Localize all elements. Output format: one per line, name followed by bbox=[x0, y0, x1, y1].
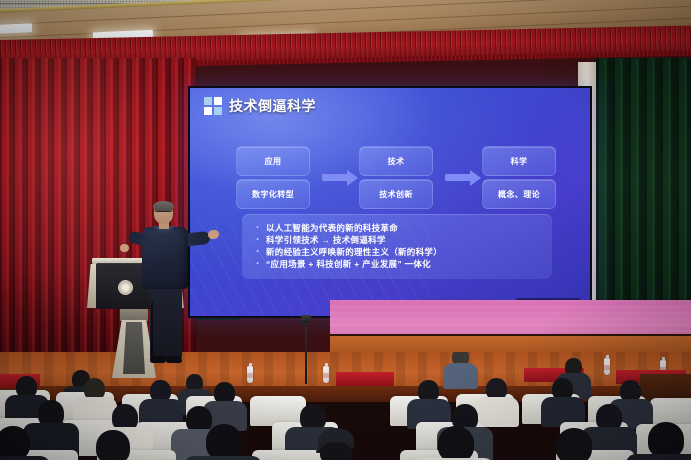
flow-box-technology: 技术 bbox=[359, 146, 433, 176]
speaker-left-hand bbox=[120, 244, 129, 252]
audience-area bbox=[0, 352, 691, 460]
university-crest-emblem bbox=[118, 280, 133, 295]
slide-flow-diagram: 应用 数字化转型 技术 技术创新 科学 概念、理论 bbox=[236, 146, 556, 209]
ceiling-light-1 bbox=[0, 23, 32, 34]
flow-arrow-2-wrap bbox=[433, 174, 482, 181]
flow-box-digital-transformation: 数字化转型 bbox=[236, 179, 310, 209]
bullet-item: “应用场景 + 科技创新 + 产业发展” 一体化 bbox=[252, 258, 542, 270]
slide-bullet-panel: 以人工智能为代表的新的科技革命 科学引领技术 → 技术倒逼科学 新的经验主义呼唤… bbox=[242, 214, 552, 279]
flow-box-science: 科学 bbox=[482, 146, 556, 176]
flow-box-application: 应用 bbox=[236, 146, 310, 176]
bullet-item: 科学引领技术 → 技术倒逼科学 bbox=[252, 234, 542, 246]
slide-surface: 技术倒逼科学 应用 数字化转型 技术 技术创新 科学 bbox=[190, 88, 590, 316]
arrow-right-icon bbox=[322, 174, 348, 181]
flow-column-2: 技术 技术创新 bbox=[359, 146, 433, 209]
flow-box-concept-theory: 概念、理论 bbox=[482, 179, 556, 209]
flow-column-1: 应用 数字化转型 bbox=[236, 146, 310, 209]
speaker-legs bbox=[150, 287, 182, 359]
arrow-right-icon bbox=[445, 174, 471, 181]
slide-header: 技术倒逼科学 bbox=[204, 96, 316, 116]
four-square-grid-logo bbox=[204, 97, 222, 115]
microphone-head-icon bbox=[301, 315, 311, 323]
speaker-leg-divider bbox=[151, 302, 153, 358]
speaker-glasses-icon bbox=[155, 211, 172, 216]
projection-screen[interactable]: 技术倒逼科学 应用 数字化转型 技术 技术创新 科学 bbox=[188, 86, 592, 318]
speaker-presenter bbox=[136, 202, 198, 374]
flow-box-tech-innovation: 技术创新 bbox=[359, 179, 433, 209]
bullet-item: 以人工智能为代表的新的科技革命 bbox=[252, 222, 542, 234]
slide-title: 技术倒逼科学 bbox=[229, 96, 316, 116]
bullet-item: 新的经验主义呼唤新的理性主义（新的科学） bbox=[252, 246, 542, 258]
flow-arrow-1-wrap bbox=[310, 174, 359, 181]
auditorium-scene: 技术倒逼科学 应用 数字化转型 技术 技术创新 科学 bbox=[0, 0, 691, 460]
flow-column-3: 科学 概念、理论 bbox=[482, 146, 556, 209]
